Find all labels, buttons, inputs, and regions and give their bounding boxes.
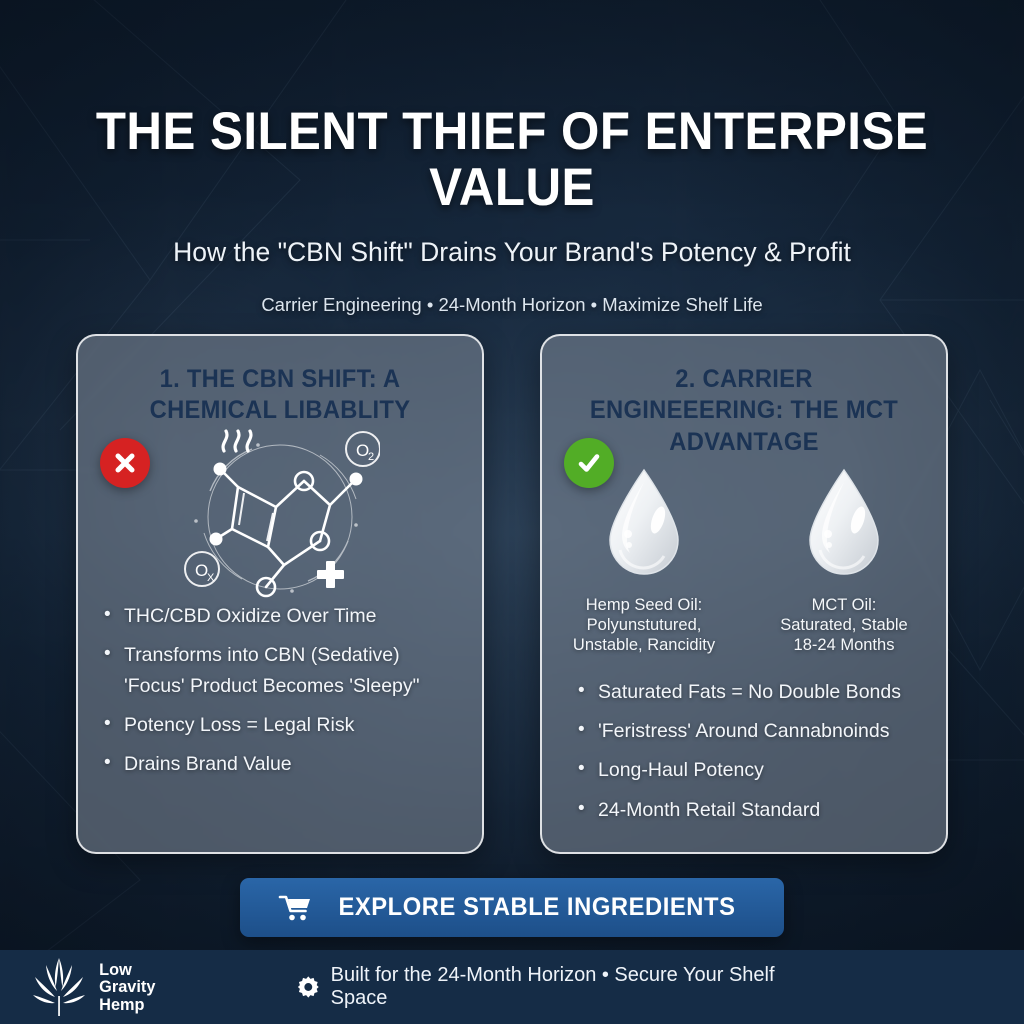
green-check-icon bbox=[564, 438, 614, 488]
cannabis-leaf-icon bbox=[30, 956, 88, 1018]
card-title-carrier-engineering: 2. CARRIER ENGINEEERING: THE MCT ADVANTA… bbox=[577, 364, 911, 458]
page-subtitle: How the "CBN Shift" Drains Your Brand's … bbox=[0, 237, 1024, 268]
footer-bar: Low Gravity Hemp Built for the 24-Month … bbox=[0, 950, 1024, 1024]
gear-icon bbox=[297, 975, 320, 999]
card-cbn-shift: 1. THE CBN SHIFT: A CHEMICAL LIBABLITY bbox=[76, 334, 484, 854]
red-x-icon bbox=[100, 438, 150, 488]
card-carrier-engineering: 2. CARRIER ENGINEEERING: THE MCT ADVANTA… bbox=[540, 334, 948, 854]
cards-row: 1. THE CBN SHIFT: A CHEMICAL LIBABLITY bbox=[76, 334, 948, 854]
check-mark-glyph bbox=[574, 448, 604, 478]
droplet-comparison: Hemp Seed Oil: Polyunstutured, Unstable,… bbox=[542, 464, 946, 655]
brand-name: Low Gravity Hemp bbox=[99, 961, 155, 1013]
bullet-list-right: Saturated Fats = No Double Bonds 'Ferist… bbox=[542, 679, 946, 823]
oil-droplet-icon bbox=[596, 464, 692, 584]
footer-tagline-group: Built for the 24-Month Horizon • Secure … bbox=[297, 964, 809, 1010]
list-item: Saturated Fats = No Double Bonds bbox=[578, 679, 928, 705]
bullet-list-left: THC/CBD Oxidize Over Time Transforms int… bbox=[78, 603, 482, 778]
x-mark-glyph bbox=[111, 449, 139, 477]
droplet-mct-oil: MCT Oil: Saturated, Stable 18-24 Months bbox=[769, 464, 919, 655]
brand-line-3: Hemp bbox=[99, 996, 155, 1013]
heat-waves-icon bbox=[223, 431, 251, 451]
list-item: Transforms into CBN (Sedative) bbox=[104, 642, 464, 668]
list-item: 'Feristress' Around Cannabnoinds bbox=[578, 718, 928, 744]
shopping-cart-icon bbox=[278, 894, 312, 922]
page-meta-line: Carrier Engineering • 24-Month Horizon •… bbox=[0, 294, 1024, 316]
droplet-caption-hemp: Hemp Seed Oil: Polyunstutured, Unstable,… bbox=[569, 595, 719, 655]
plus-icon bbox=[317, 561, 344, 588]
droplet-hemp-seed-oil: Hemp Seed Oil: Polyunstutured, Unstable,… bbox=[569, 464, 719, 655]
card-title-cbn-shift: 1. THE CBN SHIFT: A CHEMICAL LIBABLITY bbox=[113, 364, 447, 427]
list-item: 24-Month Retail Standard bbox=[578, 797, 928, 823]
list-item: Potency Loss = Legal Risk bbox=[104, 712, 464, 738]
ox-subscript: X bbox=[207, 572, 215, 584]
molecule-graphic: O 2 O X bbox=[180, 429, 380, 599]
o2-subscript: 2 bbox=[368, 451, 374, 463]
cta-row: EXPLORE STABLE INGREDIENTS bbox=[0, 878, 1024, 937]
header: THE SILENT THIEF OF ENTERPISE VALUE How … bbox=[0, 0, 1024, 316]
explore-stable-ingredients-button[interactable]: EXPLORE STABLE INGREDIENTS bbox=[240, 878, 784, 937]
brand-line-1: Low bbox=[99, 961, 155, 978]
brand-logo[interactable]: Low Gravity Hemp bbox=[30, 956, 157, 1018]
footer-tagline: Built for the 24-Month Horizon • Secure … bbox=[331, 964, 809, 1010]
list-item: Drains Brand Value bbox=[104, 751, 464, 777]
list-item: Long-Haul Potency bbox=[578, 757, 928, 783]
list-item: THC/CBD Oxidize Over Time bbox=[104, 603, 464, 629]
oil-droplet-icon bbox=[796, 464, 892, 584]
list-item-continuation: 'Focus' Product Becomes 'Sleepy" bbox=[104, 673, 464, 699]
brand-line-2: Gravity bbox=[99, 978, 155, 995]
page-title: THE SILENT THIEF OF ENTERPISE VALUE bbox=[36, 104, 988, 215]
cta-label: EXPLORE STABLE INGREDIENTS bbox=[338, 893, 735, 922]
droplet-caption-mct: MCT Oil: Saturated, Stable 18-24 Months bbox=[769, 595, 919, 655]
